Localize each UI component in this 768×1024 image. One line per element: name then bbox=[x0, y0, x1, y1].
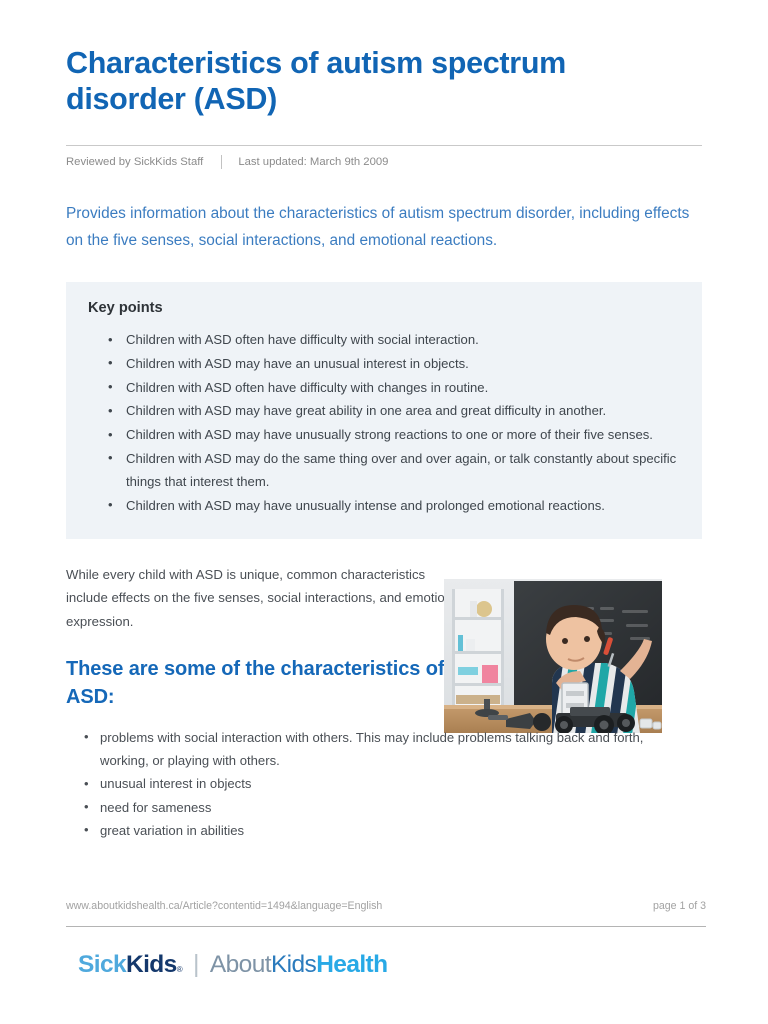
byline-separator bbox=[221, 155, 222, 169]
article-summary: Provides information about the character… bbox=[66, 169, 702, 254]
list-item: problems with social interaction with ot… bbox=[100, 726, 660, 773]
document-page: Characteristics of autism spectrum disor… bbox=[0, 0, 768, 1024]
header-divider bbox=[66, 145, 702, 146]
list-item: need for sameness bbox=[100, 796, 660, 819]
characteristics-list: problems with social interaction with ot… bbox=[66, 726, 660, 842]
list-item: great variation in abilities bbox=[100, 819, 660, 842]
logo-sick-text: Sick bbox=[78, 951, 126, 979]
list-item: Children with ASD may do the same thing … bbox=[124, 447, 680, 493]
page-title: Characteristics of autism spectrum disor… bbox=[66, 0, 666, 117]
reviewed-by-label: Reviewed by SickKids Staff bbox=[66, 157, 203, 168]
list-item: Children with ASD may have an unusual in… bbox=[124, 352, 680, 375]
logo-kids-text: Kids bbox=[126, 951, 177, 979]
list-item: Children with ASD may have unusually str… bbox=[124, 423, 680, 446]
key-points-panel: Key points Children with ASD often have … bbox=[66, 282, 702, 539]
logo-kids2-text: Kids bbox=[271, 951, 316, 979]
logo-about-text: About bbox=[210, 951, 271, 979]
brand-logo: SickKids® | AboutKidsHealth bbox=[78, 950, 387, 979]
list-item: unusual interest in objects bbox=[100, 772, 660, 795]
body-section: While every child with ASD is unique, co… bbox=[66, 563, 702, 711]
page-footer: www.aboutkidshealth.ca/Article?contentid… bbox=[66, 900, 706, 927]
article-byline: Reviewed by SickKids Staff Last updated:… bbox=[66, 155, 702, 169]
section-heading: These are some of the characteristics of… bbox=[66, 655, 466, 712]
logo-health-text: Health bbox=[316, 951, 387, 979]
page-number: page 1 of 3 bbox=[653, 900, 706, 912]
article-photo bbox=[444, 579, 662, 733]
logo-divider: | bbox=[193, 950, 199, 979]
footer-url[interactable]: www.aboutkidshealth.ca/Article?contentid… bbox=[66, 900, 382, 912]
body-text-column: While every child with ASD is unique, co… bbox=[66, 563, 466, 711]
list-item: Children with ASD often have difficulty … bbox=[124, 328, 680, 351]
list-item: Children with ASD may have unusually int… bbox=[124, 494, 680, 517]
last-updated-label: Last updated: March 9th 2009 bbox=[238, 157, 388, 168]
footer-divider bbox=[66, 926, 706, 927]
key-points-heading: Key points bbox=[88, 300, 680, 316]
logo-trademark-icon: ® bbox=[177, 965, 182, 974]
list-item: Children with ASD often have difficulty … bbox=[124, 376, 680, 399]
key-points-list: Children with ASD often have difficulty … bbox=[88, 328, 680, 516]
intro-paragraph: While every child with ASD is unique, co… bbox=[66, 563, 466, 633]
list-item: Children with ASD may have great ability… bbox=[124, 399, 680, 422]
